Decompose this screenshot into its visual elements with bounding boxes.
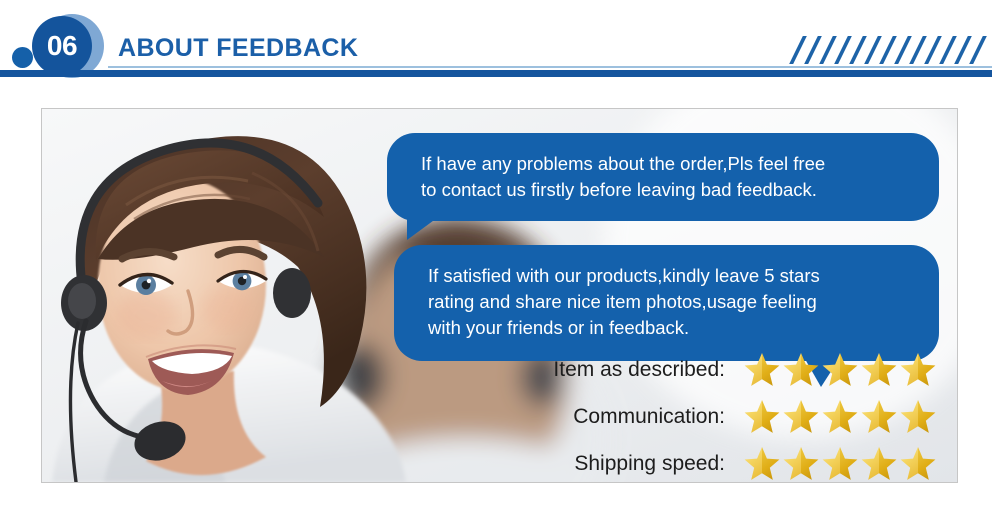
diagonal-stripe — [834, 36, 852, 64]
feedback-content-panel: If have any problems about the order,Pls… — [41, 108, 958, 483]
rating-label: Item as described: — [529, 358, 743, 382]
star-icon — [899, 398, 937, 435]
star-icon — [860, 398, 898, 435]
star-icon — [782, 398, 820, 435]
diagonal-stripe — [894, 36, 912, 64]
diagonal-stripe — [819, 36, 837, 64]
bubble-1-tail — [407, 218, 437, 240]
diagonal-stripe — [924, 36, 942, 64]
rating-row: Communication: — [529, 396, 958, 437]
section-number-label: 06 — [47, 32, 77, 60]
feedback-message-bubble-2: If satisfied with our products,kindly le… — [394, 245, 939, 361]
star-icon — [782, 351, 820, 388]
star-icon — [743, 351, 781, 388]
feedback-message-bubble-1: If have any problems about the order,Pls… — [387, 133, 939, 221]
star-icon — [899, 445, 937, 482]
bubble-2-line-1: If satisfied with our products,kindly le… — [428, 263, 913, 289]
star-rating — [743, 398, 937, 435]
diagonal-stripe — [954, 36, 972, 64]
diagonal-stripe — [879, 36, 897, 64]
rating-row: Shipping speed: — [529, 443, 958, 483]
page-title: ABOUT FEEDBACK — [118, 34, 358, 63]
header-thick-rule — [0, 70, 992, 77]
diagonal-stripe — [909, 36, 927, 64]
diagonal-stripes-decoration — [796, 36, 992, 64]
star-icon — [782, 445, 820, 482]
header-thin-rule — [108, 66, 992, 68]
star-icon — [860, 351, 898, 388]
diagonal-stripe — [939, 36, 957, 64]
diagonal-stripe — [804, 36, 822, 64]
rating-list: Item as described:Communication:Shipping… — [529, 349, 958, 483]
star-rating — [743, 351, 937, 388]
star-icon — [821, 445, 859, 482]
decorative-dot-icon — [12, 47, 33, 68]
star-rating — [743, 445, 937, 482]
page-header: 06 ABOUT FEEDBACK — [0, 0, 1000, 95]
section-number-badge: 06 — [32, 16, 92, 76]
star-icon — [821, 351, 859, 388]
star-icon — [821, 398, 859, 435]
rating-row: Item as described: — [529, 349, 958, 390]
rating-label: Communication: — [529, 405, 743, 429]
diagonal-stripe — [864, 36, 882, 64]
rating-label: Shipping speed: — [529, 452, 743, 476]
diagonal-stripe — [849, 36, 867, 64]
star-icon — [899, 351, 937, 388]
bubble-2-line-3: with your friends or in feedback. — [428, 315, 913, 341]
star-icon — [743, 398, 781, 435]
star-icon — [860, 445, 898, 482]
diagonal-stripe — [969, 36, 987, 64]
bubble-1-line-2: to contact us firstly before leaving bad… — [421, 177, 913, 203]
star-icon — [743, 445, 781, 482]
bubble-1-line-1: If have any problems about the order,Pls… — [421, 151, 913, 177]
diagonal-stripe — [789, 36, 807, 64]
bubble-2-line-2: rating and share nice item photos,usage … — [428, 289, 913, 315]
